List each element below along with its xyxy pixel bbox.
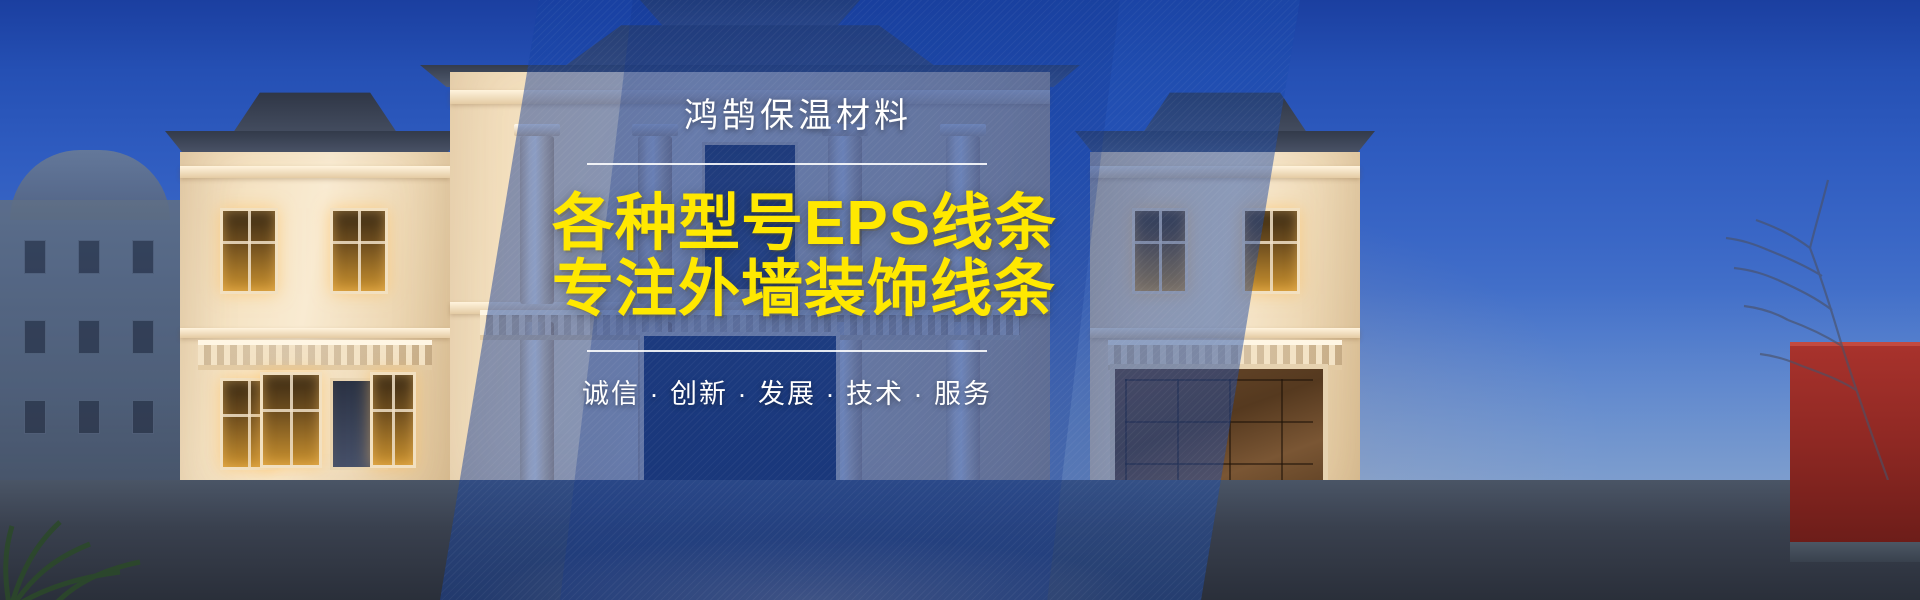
banner-text-block: 鸿鹄保温材料 各种型号EPS线条 专注外墙装饰线条 诚信 · 创新 · 发展 ·… bbox=[552, 96, 1022, 411]
cornice-band bbox=[180, 328, 450, 338]
villa-window bbox=[330, 208, 388, 294]
roof-wing-left-top bbox=[200, 88, 430, 134]
brand-name: 鸿鹄保温材料 bbox=[574, 96, 1022, 137]
tagline: 诚信 · 创新 · 发展 · 技术 · 服务 bbox=[552, 372, 1022, 411]
background-window bbox=[78, 240, 100, 274]
background-window bbox=[24, 320, 46, 354]
divider-top bbox=[587, 163, 987, 165]
background-window bbox=[24, 400, 46, 434]
cornice-band bbox=[180, 166, 450, 178]
villa-window bbox=[220, 208, 278, 294]
foreground-plant-icon bbox=[0, 490, 250, 600]
balustrade bbox=[198, 340, 432, 370]
villa-window bbox=[370, 372, 416, 468]
headline-line-1: 各种型号EPS线条 bbox=[552, 191, 1022, 257]
villa-window bbox=[260, 372, 322, 468]
headline-line-2: 专注外墙装饰线条 bbox=[552, 257, 1022, 323]
headline: 各种型号EPS线条 专注外墙装饰线条 bbox=[552, 191, 1022, 322]
background-window bbox=[78, 320, 100, 354]
divider-bottom bbox=[587, 350, 987, 352]
promo-banner: 鸿鹄保温材料 各种型号EPS线条 专注外墙装饰线条 诚信 · 创新 · 发展 ·… bbox=[0, 0, 1920, 600]
background-window bbox=[24, 240, 46, 274]
bare-tree-icon bbox=[1660, 150, 1890, 480]
background-window bbox=[78, 400, 100, 434]
